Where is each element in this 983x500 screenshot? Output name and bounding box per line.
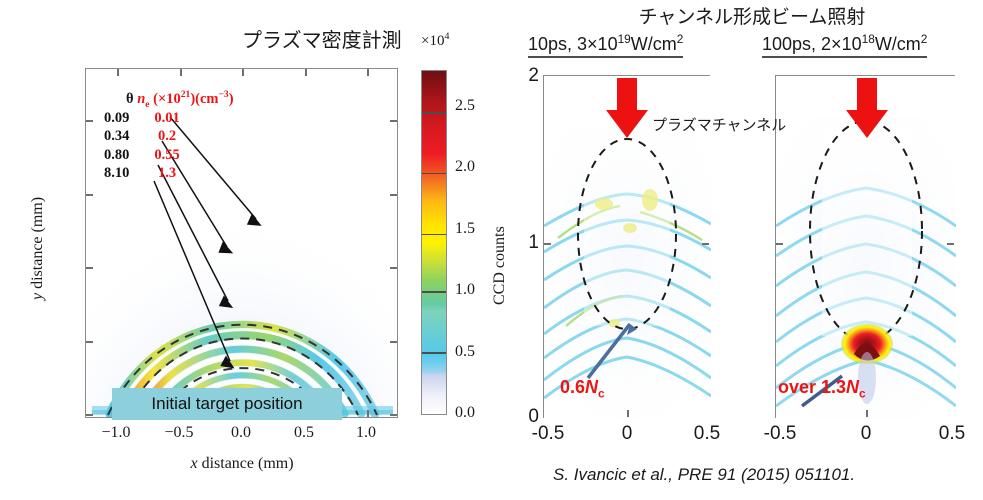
density-annotation-table: θ ne (×1021)(cm−3) 0.09 0.01 0.34 0.2 0.… (104, 91, 234, 182)
incident-beam-arrow-icon (844, 78, 890, 140)
panel-a-density-value: 0.6 (560, 377, 585, 397)
y-tick-right-0 (390, 414, 397, 416)
y-axis-title: y distance (mm) (30, 197, 46, 300)
ne-unit-pre: (×10 (150, 91, 181, 107)
plasma-channel-label: プラズマチャンネル (652, 118, 786, 133)
x-tick-label-2: 0.0 (231, 425, 251, 441)
figure-root: プラズマ密度計測 ×104 (0, 0, 983, 500)
ne-unit-close: ) (229, 91, 234, 107)
right-x-tick-label-1: 0 (861, 423, 872, 445)
y-tick-right-3 (390, 194, 397, 196)
colorbar-separator (422, 291, 446, 292)
annotation-row: 0.34 0.2 (104, 128, 234, 145)
y-tick-right-4 (390, 120, 397, 122)
y-tick-2 (86, 267, 93, 269)
y-axis-title-symbol: y (29, 293, 46, 300)
panel-b-density-symbol: N (846, 377, 859, 397)
x-tick-top-1 (180, 69, 182, 76)
right-section-title: チャンネル形成ビーム照射 (639, 8, 866, 27)
panel-b-subtitle-exp: 18 (862, 32, 875, 46)
colorbar-tick-label-5: 2.5 (455, 97, 475, 115)
colorbar-separator (422, 173, 446, 174)
y-tick-right-2 (390, 267, 397, 269)
ne-unit-mid: )(cm (190, 91, 218, 107)
panel-a-subtitle-pre: 10ps, 3×10 (528, 34, 618, 54)
right-y-tick-1 (776, 243, 783, 245)
annotation-header: θ ne (×1021)(cm−3) (104, 91, 234, 108)
x-tick-top-0 (117, 69, 119, 76)
colorbar-separator (422, 112, 446, 113)
ne-unit-exp2: −3 (218, 89, 228, 100)
colorbar-multiplier-text: ×10 (421, 33, 444, 49)
x-tick-label-4: 1.0 (356, 425, 376, 441)
y-tick-4 (86, 120, 93, 122)
ne-value: 0.2 (147, 128, 187, 145)
annotation-row: 8.10 1.3 (104, 165, 234, 182)
y-axis-title-text: distance (mm) (29, 197, 46, 293)
panel-a-density-symbol: N (585, 377, 598, 397)
ne-value: 0.55 (147, 147, 187, 164)
citation-label: S. Ivancic et al., PRE 91 (2015) 051101. (553, 465, 855, 484)
x-tick-4 (367, 410, 369, 417)
mid-y-tick-label-1: 1 (528, 232, 539, 254)
colorbar-tick-label-4: 2.0 (455, 158, 475, 176)
mid-y-tick-1 (544, 243, 551, 245)
ne-value: 0.01 (147, 110, 187, 127)
panel-b-subtitle-pre: 100ps, 2×10 (762, 34, 862, 54)
colorbar-gradient (422, 71, 446, 414)
y-tick-3 (86, 194, 93, 196)
colorbar (421, 70, 447, 415)
panel-b-density-subscript: c (859, 387, 866, 401)
panel-b-subtitle: 100ps, 2×1018W/cm2 (762, 34, 927, 58)
panel-a-subtitle: 10ps, 3×1019W/cm2 (528, 34, 683, 58)
colorbar-tick-label-3: 1.5 (455, 220, 475, 238)
panel-a-density-label: 0.6Nc (560, 378, 605, 396)
x-tick-label-3: 0.5 (294, 425, 314, 441)
mid-x-tick-label-0: -0.5 (532, 423, 565, 445)
ne-unit-exp: 21 (181, 89, 191, 100)
x-tick-label-1: −0.5 (164, 425, 193, 441)
theta-value: 0.80 (104, 147, 142, 164)
initial-target-position-bar: Initial target position (112, 388, 342, 420)
initial-target-position-label: Initial target position (151, 394, 302, 414)
colorbar-separator (422, 352, 446, 353)
incident-beam-arrow-icon (604, 78, 650, 140)
mid-y-tick-label-2: 2 (528, 65, 539, 87)
mid-x-tick-0 (627, 410, 629, 417)
theta-value: 0.34 (104, 128, 142, 145)
colorbar-multiplier: ×104 (421, 34, 449, 49)
annotation-row: 0.09 0.01 (104, 110, 234, 127)
ne-value: 1.3 (147, 165, 187, 182)
theta-value: 0.09 (104, 110, 142, 127)
mid-x-tick-label-2: 0.5 (694, 423, 720, 445)
theta-symbol: θ (126, 91, 134, 107)
panel-a-subtitle-post: W/cm (631, 34, 677, 54)
right-x-tick-label-0: -0.5 (764, 423, 797, 445)
colorbar-title: CCD counts (492, 226, 508, 305)
colorbar-tick-label-1: 0.5 (455, 343, 475, 361)
annotation-row: 0.80 0.55 (104, 147, 234, 164)
y-tick-0 (86, 414, 93, 416)
x-tick-label-0: −1.0 (101, 425, 130, 441)
panel-a-subtitle-exp: 19 (618, 32, 631, 46)
mid-y-tick-right-1 (702, 243, 709, 245)
y-tick-1 (86, 341, 93, 343)
left-panel-title: プラズマ密度計測 (242, 30, 402, 50)
x-axis-title: x distance (mm) (190, 456, 293, 472)
panel-b-subtitle-exp2: 2 (921, 32, 928, 46)
colorbar-tick-label-0: 0.0 (455, 404, 475, 422)
panel-b-subtitle-post: W/cm (875, 34, 921, 54)
x-tick-top-4 (367, 69, 369, 76)
colorbar-tick-label-2: 1.0 (455, 281, 475, 299)
right-y-tick-right-1 (947, 243, 954, 245)
x-tick-top-3 (305, 69, 307, 76)
citation-text: S. Ivancic et al., PRE 91 (2015) 051101. (553, 466, 855, 483)
channel-panel-100ps: -0.5 0 0.5 (775, 75, 955, 418)
mid-x-tick-label-1: 0 (622, 423, 633, 445)
colorbar-multiplier-exponent: 4 (444, 31, 449, 42)
x-axis-title-text: distance (mm) (198, 455, 294, 472)
main-density-plot: 0.0 0.5 1.0 1.5 2.0 θ ne (×1021)(cm−3) 0… (85, 68, 398, 418)
panel-a-density-subscript: c (598, 387, 605, 401)
theta-value: 8.10 (104, 165, 142, 182)
panel-b-density-label: over 1.3Nc (778, 378, 866, 396)
panel-b-density-value: over 1.3 (778, 377, 846, 397)
right-x-tick-label-2: 0.5 (939, 423, 965, 445)
panel-a-subtitle-exp2: 2 (677, 32, 684, 46)
colorbar-separator (422, 234, 446, 235)
right-x-tick-0 (866, 410, 868, 417)
x-tick-top-2 (242, 69, 244, 76)
y-tick-right-1 (390, 341, 397, 343)
